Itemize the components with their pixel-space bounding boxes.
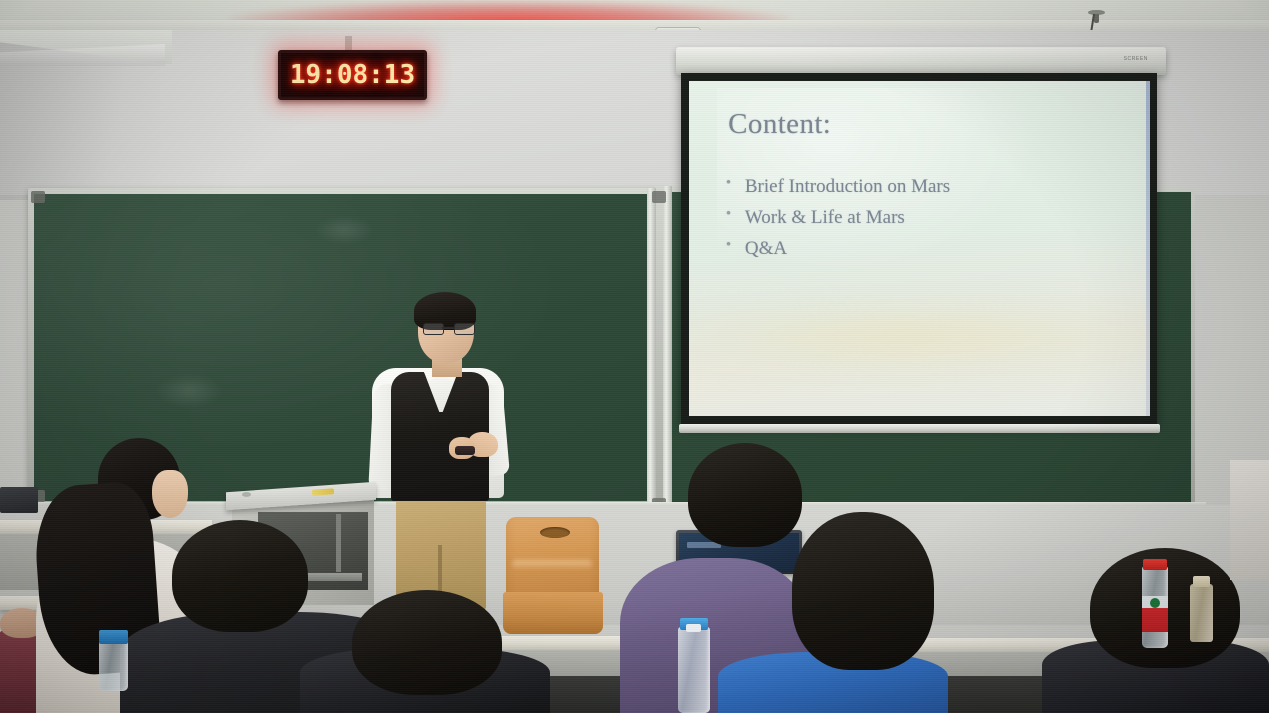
audience-face-profile: [152, 470, 188, 518]
projector-screen-bottom-bar: [679, 424, 1160, 433]
slide-bullet-item: Q&A: [726, 238, 950, 260]
eyeglasses-icon: [423, 323, 473, 334]
bottle-label: [1142, 596, 1168, 632]
projector-screen-frame: Content: Brief Introduction on Mars Work…: [681, 73, 1157, 425]
board-panel-divider: [647, 188, 656, 510]
board-corner-bracket: [652, 191, 666, 203]
lectern-bay-divider: [336, 514, 341, 572]
wall-mounted-monitor: [0, 487, 38, 513]
audience-hair: [792, 512, 934, 670]
bottle-logo-icon: [1150, 598, 1160, 608]
slide-bullet-item: Work & Life at Mars: [726, 207, 950, 229]
presentation-clicker[interactable]: [455, 446, 475, 455]
bottle-cap-red: [1143, 559, 1167, 570]
led-clock: 19:08:13: [278, 50, 427, 100]
audience-hair: [172, 520, 308, 632]
slide-bullet-list: Brief Introduction on Mars Work & Life a…: [726, 176, 950, 269]
chalk-smudge: [154, 374, 224, 408]
bottle-cap-tan: [1193, 576, 1210, 587]
bottle-cap-blue: [99, 630, 128, 644]
wooden-chair-seat[interactable]: [503, 592, 603, 634]
chalk-smudge: [314, 216, 374, 244]
lecture-hall-scene: 19:08:13 SCREEN Content: Brief Introduct…: [0, 0, 1269, 713]
led-clock-panel: 19:08:13: [288, 59, 417, 91]
screen-edge-fringe: [1146, 81, 1150, 416]
board-panel-divider: [663, 186, 672, 512]
housing-brand-label: SCREEN: [1124, 56, 1148, 62]
chair-highlight: [512, 560, 592, 570]
audience-hair: [352, 590, 502, 695]
bottle-spout: [686, 624, 701, 632]
audience-hair: [688, 443, 802, 547]
lectern-knob[interactable]: [242, 492, 251, 497]
right-edge-wall: [1230, 460, 1269, 580]
slide-title: Content:: [728, 108, 831, 141]
clock-time-text: 19:08:13: [290, 62, 415, 88]
board-corner-bracket: [31, 191, 45, 203]
projector-screen-surface: Content: Brief Introduction on Mars Work…: [689, 81, 1150, 416]
slide-bullet-item: Brief Introduction on Mars: [726, 176, 950, 198]
projector-screen-housing[interactable]: SCREEN: [676, 47, 1166, 75]
chair-handle-cutout: [540, 527, 570, 538]
